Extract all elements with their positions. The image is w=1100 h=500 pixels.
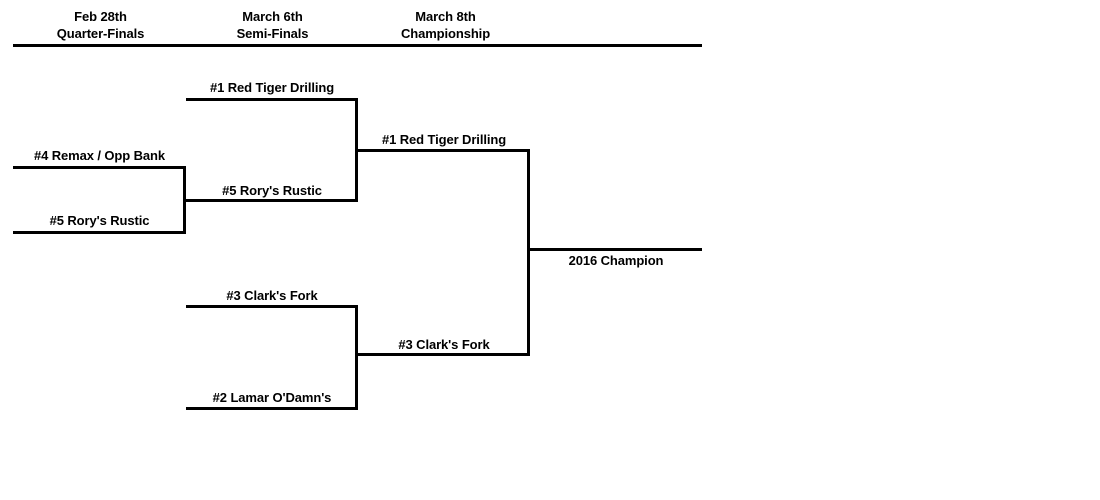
column-header-quarter-finals: Feb 28th Quarter-Finals — [13, 8, 188, 42]
championship-slot-2-label: #3 Clark's Fork — [358, 337, 530, 353]
championship-slot-1-label: #1 Red Tiger Drilling — [358, 132, 530, 148]
quarter-final-slot-2-line — [13, 231, 186, 234]
semi-final-slot-3-line — [186, 305, 358, 308]
column-header-date: March 6th — [185, 8, 360, 25]
semi-final-slot-1-label: #1 Red Tiger Drilling — [186, 80, 358, 96]
column-header-championship: March 8th Championship — [358, 8, 533, 42]
column-header-round: Quarter-Finals — [13, 25, 188, 42]
column-header-semi-finals: March 6th Semi-Finals — [185, 8, 360, 42]
semi-final-slot-2-label: #5 Rory's Rustic — [186, 183, 358, 199]
column-header-date: Feb 28th — [13, 8, 188, 25]
semi-final-slot-4-line — [186, 407, 358, 410]
semi-final-slot-3-label: #3 Clark's Fork — [186, 288, 358, 304]
column-header-date: March 8th — [358, 8, 533, 25]
tournament-bracket: Feb 28th Quarter-Finals March 6th Semi-F… — [0, 0, 1100, 500]
championship-slot-2-line — [358, 353, 530, 356]
semi-final-bottom-connector — [355, 305, 358, 410]
semi-final-slot-2-line — [186, 199, 358, 202]
championship-slot-1-line — [358, 149, 530, 152]
champion-label: 2016 Champion — [530, 253, 702, 269]
column-header-round: Semi-Finals — [185, 25, 360, 42]
header-divider — [13, 44, 702, 47]
column-header-round: Championship — [358, 25, 533, 42]
champion-line — [530, 248, 702, 251]
quarter-final-slot-1-label: #4 Remax / Opp Bank — [13, 148, 186, 164]
semi-final-slot-4-label: #2 Lamar O'Damn's — [186, 390, 358, 406]
semi-final-slot-1-line — [186, 98, 358, 101]
quarter-final-slot-1-line — [13, 166, 186, 169]
quarter-final-slot-2-label: #5 Rory's Rustic — [13, 213, 186, 229]
